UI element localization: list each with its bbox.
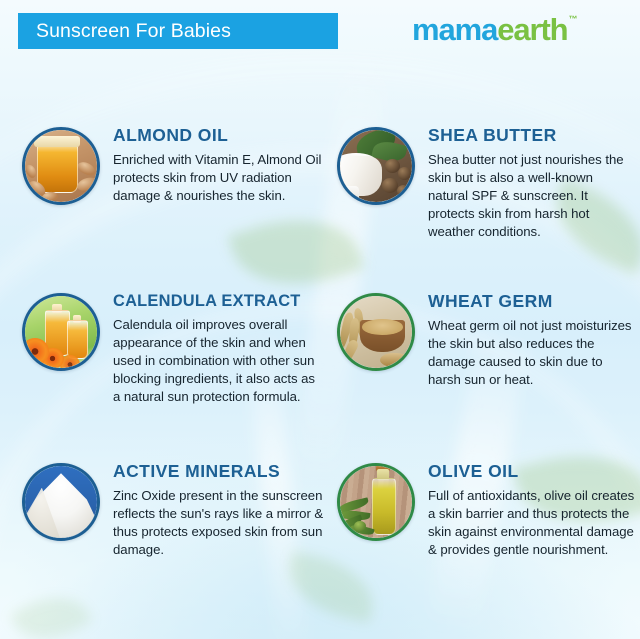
ingredient-description: Calendula oil improves overall appearanc… xyxy=(113,316,325,405)
ingredients-grid: ALMOND OIL Enriched with Vitamin E, Almo… xyxy=(0,112,640,618)
ingredients-row: ALMOND OIL Enriched with Vitamin E, Almo… xyxy=(0,112,640,278)
page-title-banner: Sunscreen For Babies xyxy=(18,13,338,49)
ingredient-title: OLIVE OIL xyxy=(428,462,640,481)
logo-text-earth: earth xyxy=(497,12,567,48)
shea-butter-image xyxy=(337,127,415,205)
ingredient-title: WHEAT GERM xyxy=(428,292,640,311)
ingredient-card-olive-oil: OLIVE OIL Full of antioxidants, olive oi… xyxy=(325,448,640,618)
brand-logo: mamaearth™ xyxy=(412,12,578,48)
header: Sunscreen For Babies mamaearth™ xyxy=(0,0,640,62)
trademark-icon: ™ xyxy=(569,14,578,24)
ingredient-card-active-minerals: ACTIVE MINERALS Zinc Oxide present in th… xyxy=(0,448,325,618)
calendula-extract-image xyxy=(22,293,100,371)
ingredient-description: Wheat germ oil not just moisturizes the … xyxy=(428,317,636,389)
ingredient-description: Shea butter not just nourishes the skin … xyxy=(428,151,636,240)
logo-text-mama: mama xyxy=(412,12,497,48)
ingredient-card-calendula-extract: CALENDULA EXTRACT Calendula oil improves… xyxy=(0,278,325,448)
olive-oil-image xyxy=(337,463,415,541)
ingredient-title: ALMOND OIL xyxy=(113,126,325,145)
ingredient-card-almond-oil: ALMOND OIL Enriched with Vitamin E, Almo… xyxy=(0,112,325,278)
ingredient-description: Full of antioxidants, olive oil creates … xyxy=(428,487,636,559)
ingredients-row: CALENDULA EXTRACT Calendula oil improves… xyxy=(0,278,640,448)
ingredient-card-wheat-germ: WHEAT GERM Wheat germ oil not just moist… xyxy=(325,278,640,448)
active-minerals-image xyxy=(22,463,100,541)
wheat-germ-image xyxy=(337,293,415,371)
ingredient-description: Zinc Oxide present in the sunscreen refl… xyxy=(113,487,325,559)
ingredient-title: ACTIVE MINERALS xyxy=(113,462,325,481)
ingredient-title: CALENDULA EXTRACT xyxy=(113,292,325,310)
almond-oil-image xyxy=(22,127,100,205)
ingredient-title: SHEA BUTTER xyxy=(428,126,640,145)
ingredients-row: ACTIVE MINERALS Zinc Oxide present in th… xyxy=(0,448,640,618)
page-title: Sunscreen For Babies xyxy=(36,20,231,43)
ingredient-card-shea-butter: SHEA BUTTER Shea butter not just nourish… xyxy=(325,112,640,278)
ingredient-description: Enriched with Vitamin E, Almond Oil prot… xyxy=(113,151,325,205)
